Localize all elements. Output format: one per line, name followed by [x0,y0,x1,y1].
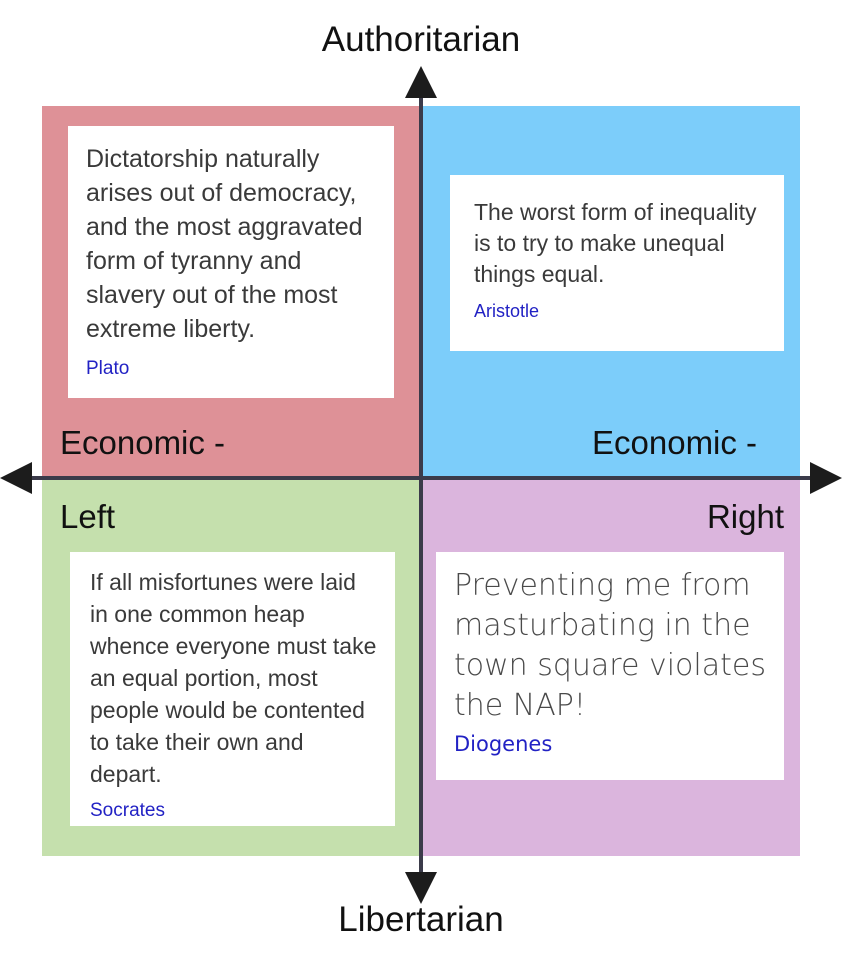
axis-label-economic-left-line1: Economic - [60,424,225,462]
quote-card-socrates: If all misfortunes were laid in one comm… [70,552,395,826]
axis-label-economic-left-line2: Left [60,498,115,536]
quote-card-diogenes: Preventing me from masturbating in the t… [436,552,784,780]
left-arrow-icon [0,462,32,494]
quote-author[interactable]: Diogenes [454,732,768,756]
quote-text: If all misfortunes were laid in one comm… [90,566,377,790]
quote-text: Dictatorship naturally arises out of dem… [86,142,376,346]
quote-text: The worst form of inequality is to try t… [474,197,762,290]
right-arrow-icon [810,462,842,494]
axis-label-economic-right-line1: Economic - [592,424,757,462]
quote-author[interactable]: Plato [86,358,376,380]
vertical-axis-line [419,78,423,890]
political-compass-chart: Authoritarian Libertarian Economic - Lef… [0,0,842,960]
up-arrow-icon [405,66,437,98]
axis-label-authoritarian: Authoritarian [0,20,842,60]
quote-author[interactable]: Socrates [90,800,377,822]
horizontal-axis-line [22,476,820,480]
quote-text: Preventing me from masturbating in the t… [454,566,768,726]
quote-card-plato: Dictatorship naturally arises out of dem… [68,126,394,398]
quote-author[interactable]: Aristotle [474,301,762,322]
quote-card-aristotle: The worst form of inequality is to try t… [450,175,784,351]
axis-label-economic-right-line2: Right [707,498,784,536]
axis-label-libertarian: Libertarian [0,900,842,940]
